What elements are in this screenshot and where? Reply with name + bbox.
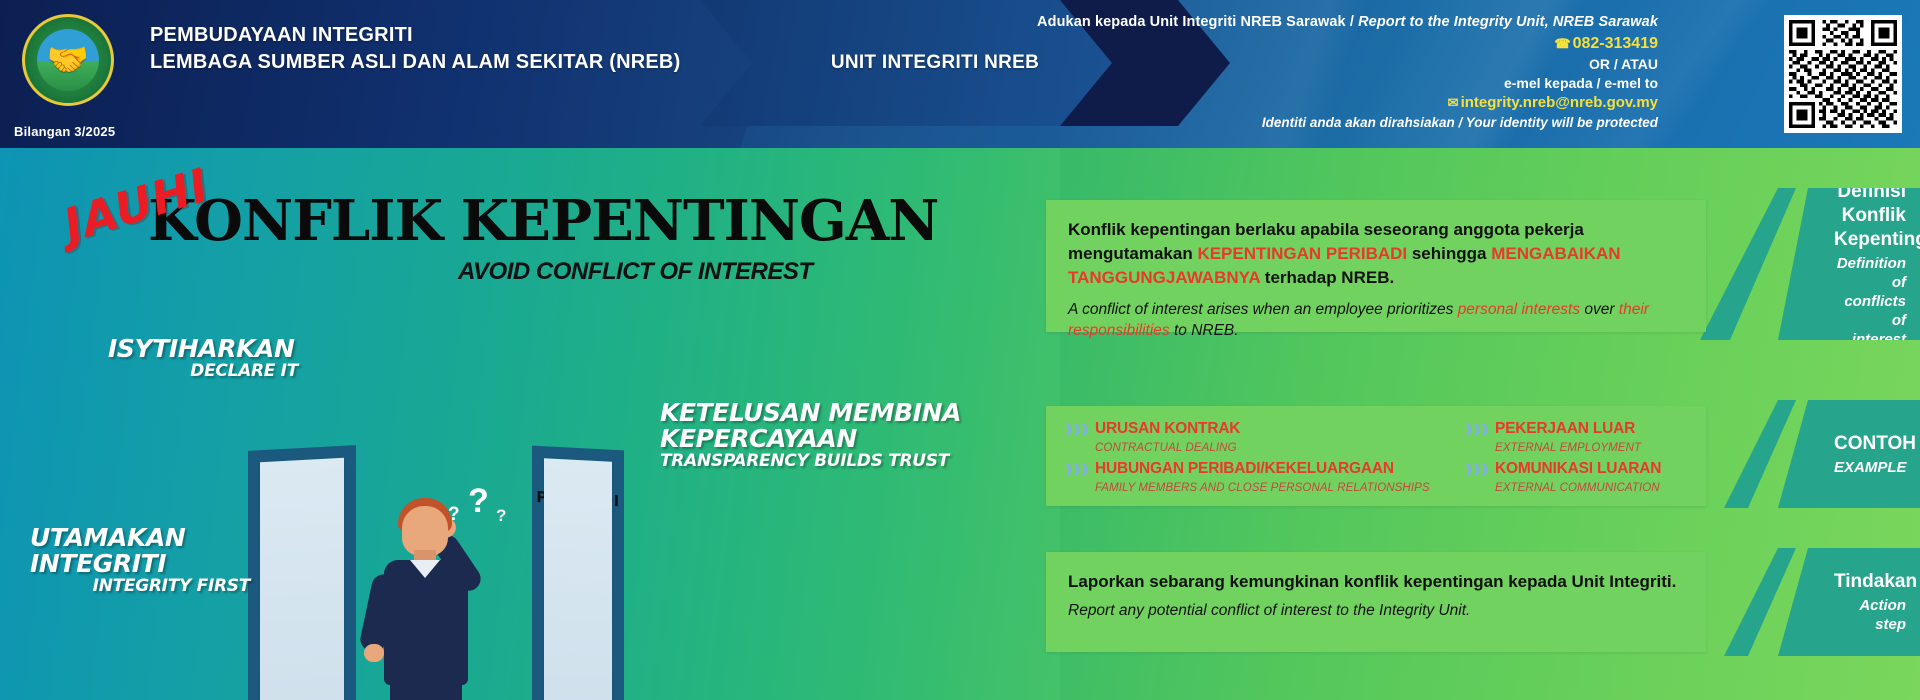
panel-definition: Konflik kepentingan berlaku apabila sese…: [1046, 200, 1706, 332]
caption-transparency-en: TRANSPARENCY BUILDS TRUST: [660, 452, 990, 471]
triple-chevron-icon: [1466, 424, 1488, 436]
figure-legs: [390, 678, 462, 700]
definition-text-en: A conflict of interest arises when an em…: [1068, 299, 1684, 341]
page-header: 🤝 PEMBUDAYAAN INTEGRITI LEMBAGA SUMBER A…: [0, 0, 1920, 148]
nreb-logo-icon: 🤝: [22, 14, 114, 106]
tab-definition-label-ms: Definisi Konflik Kepentingan: [1834, 180, 1906, 252]
contact-separator: /: [1346, 14, 1358, 30]
contact-email-label: e-mel kepada / e-mel to: [998, 75, 1658, 91]
example-label-en: FAMILY MEMBERS AND CLOSE PERSONAL RELATI…: [1095, 482, 1430, 494]
logo-emblem: 🤝: [37, 29, 99, 91]
door-nreb: NREB: [248, 445, 356, 700]
triple-chevron-icon: [1066, 424, 1088, 436]
example-item: KOMUNIKASI LUARAN EXTERNAL COMMUNICATION: [1466, 460, 1726, 496]
triple-chevron-icon: [1466, 464, 1488, 476]
org-line-1: PEMBUDAYAAN INTEGRITI: [150, 22, 680, 49]
caption-declare-en: DECLARE IT: [108, 362, 298, 381]
caption-declare: ISYTIHARKAN DECLARE IT: [108, 336, 298, 381]
contact-phone-row[interactable]: ☎082-313419: [998, 35, 1658, 53]
door-nreb-panel: [260, 458, 344, 700]
definition-en-part-c: to NREB.: [1170, 322, 1239, 339]
caption-declare-ms: ISYTIHARKAN: [108, 336, 298, 362]
definition-ms-part-b: sehingga: [1407, 244, 1491, 263]
tab-examples-label-ms: CONTOH: [1834, 432, 1906, 456]
example-label-ms: HUBUNGAN PERIBADI/KEKELUARGAAN: [1095, 460, 1394, 477]
panel-action: Laporkan sebarang kemungkinan konflik ke…: [1046, 552, 1706, 652]
example-label-ms: PEKERJAAN LUAR: [1495, 420, 1635, 437]
page-title: KONFLIK KEPENTINGAN: [148, 192, 938, 250]
example-label-ms: URUSAN KONTRAK: [1095, 420, 1240, 437]
definition-text-ms: Konflik kepentingan berlaku apabila sese…: [1068, 218, 1684, 290]
figure-torso: [384, 560, 468, 685]
definition-en-highlight-1: personal interests: [1458, 301, 1580, 318]
caption-integrity-en: INTEGRITY FIRST: [30, 577, 250, 596]
action-text-ms: Laporkan sebarang kemungkinan konflik ke…: [1068, 570, 1684, 593]
issue-number: Bilangan 3/2025: [14, 124, 115, 139]
example-label-en: EXTERNAL EMPLOYMENT: [1495, 442, 1641, 454]
contact-email[interactable]: integrity.nreb@nreb.gov.my: [1461, 94, 1658, 111]
tab-action-label-ms: Tindakan: [1834, 570, 1906, 594]
panel-examples: URUSAN KONTRAK CONTRACTUAL DEALING PEKER…: [1046, 406, 1706, 506]
definition-en-part-b: over: [1580, 301, 1619, 318]
door-peribadi-panel: [544, 458, 612, 700]
example-label-en: EXTERNAL COMMUNICATION: [1495, 482, 1660, 494]
door-peribadi: PERIBADI: [532, 446, 624, 700]
definition-ms-highlight-1: KEPENTINGAN PERIBADI: [1197, 244, 1407, 263]
example-item: PEKERJAAN LUAR EXTERNAL EMPLOYMENT: [1466, 420, 1726, 456]
contact-report-ms: Adukan kepada Unit Integriti NREB Sarawa…: [1037, 14, 1346, 30]
contact-email-row[interactable]: ✉integrity.nreb@nreb.gov.my: [998, 94, 1658, 111]
tab-examples-label-en: EXAMPLE: [1834, 458, 1906, 477]
contact-report-en: Report to the Integrity Unit, NREB Saraw…: [1358, 14, 1658, 30]
question-marks-group: ? ? ?: [446, 486, 526, 538]
contact-privacy-note: Identiti anda akan dirahsiakan / Your id…: [998, 115, 1658, 130]
tab-definition-label-en: Definition of conflicts of interest: [1834, 254, 1906, 349]
question-mark-large: ?: [468, 482, 489, 521]
caption-transparency-ms: KETELUSAN MEMBINA KEPERCAYAAN: [660, 400, 990, 452]
tab-action-label-en: Action step: [1834, 596, 1906, 634]
example-label-en: CONTRACTUAL DEALING: [1095, 442, 1237, 454]
definition-en-part-a: A conflict of interest arises when an em…: [1068, 301, 1458, 318]
contact-report-line: Adukan kepada Unit Integriti NREB Sarawa…: [998, 14, 1658, 30]
figure-head: [402, 506, 448, 556]
caption-transparency: KETELUSAN MEMBINA KEPERCAYAAN TRANSPAREN…: [660, 400, 990, 471]
envelope-icon: ✉: [1448, 95, 1459, 110]
phone-icon: ☎: [1554, 36, 1570, 51]
question-mark-small-right: ?: [496, 506, 506, 526]
qr-code-icon[interactable]: [1784, 15, 1902, 133]
contact-or-text: OR / ATAU: [998, 56, 1658, 72]
example-label-ms: KOMUNIKASI LUARAN: [1495, 460, 1661, 477]
action-text-en: Report any potential conflict of interes…: [1068, 602, 1684, 620]
figure-left-hand: [364, 644, 384, 662]
org-line-2: LEMBAGA SUMBER ASLI DAN ALAM SEKITAR (NR…: [150, 49, 680, 76]
examples-grid: URUSAN KONTRAK CONTRACTUAL DEALING PEKER…: [1046, 406, 1706, 496]
hand-leaf-icon: 🤝: [47, 43, 89, 77]
contact-block: Adukan kepada Unit Integriti NREB Sarawa…: [998, 14, 1658, 130]
contact-phone[interactable]: 082-313419: [1573, 35, 1658, 52]
confused-man-figure: ? ? ?: [360, 488, 500, 700]
example-item: URUSAN KONTRAK CONTRACTUAL DEALING: [1066, 420, 1466, 456]
definition-ms-part-c: terhadap NREB.: [1260, 268, 1394, 287]
page-subtitle: AVOID CONFLICT OF INTEREST: [458, 258, 813, 286]
example-item: HUBUNGAN PERIBADI/KEKELUARGAAN FAMILY ME…: [1066, 460, 1466, 496]
caption-integrity-ms: UTAMAKAN INTEGRITI: [30, 525, 250, 577]
triple-chevron-icon: [1066, 464, 1088, 476]
organisation-title: PEMBUDAYAAN INTEGRITI LEMBAGA SUMBER ASL…: [150, 22, 680, 76]
caption-integrity: UTAMAKAN INTEGRITI INTEGRITY FIRST: [30, 525, 250, 596]
